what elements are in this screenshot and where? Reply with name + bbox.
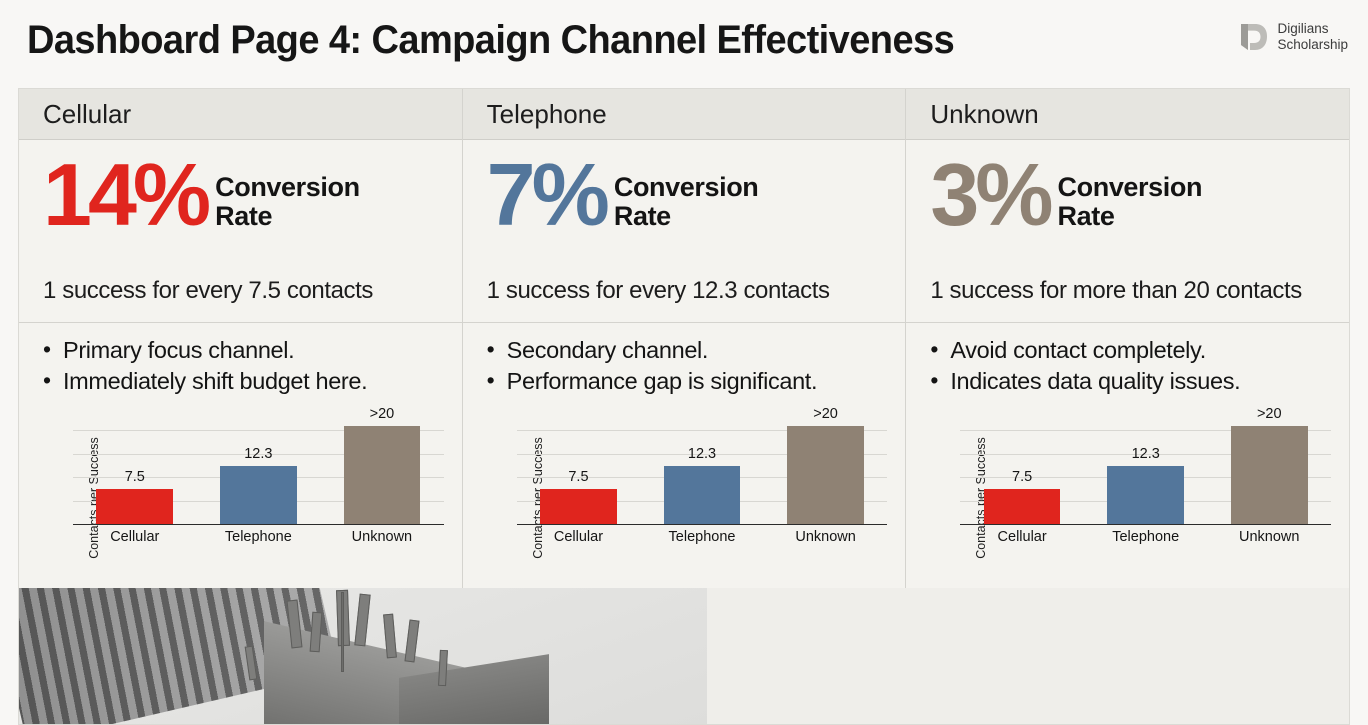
chart-bars: 7.512.3>20 (73, 407, 444, 524)
chart-x-tick-label: Unknown (320, 529, 444, 545)
card-title: Unknown (930, 99, 1038, 130)
conversion-rate-label: Conversion Rate (614, 173, 759, 231)
conversion-rate-label-line2: Rate (614, 201, 671, 231)
chart-bar-value-label: 7.5 (1012, 469, 1032, 485)
chart-plot-area: 7.512.3>20 (517, 407, 888, 525)
contacts-per-success-chart: Contacts per Success 7.512.3>20 Cellular… (930, 407, 1333, 588)
conversion-rate-label: Conversion Rate (215, 173, 360, 231)
chart-bar-value-label: >20 (1257, 406, 1282, 422)
chart-bar-telephone[interactable]: 12.3 (664, 466, 741, 524)
chart-x-tick-label: Unknown (1207, 529, 1331, 545)
conversion-rate-label-line2: Rate (215, 201, 272, 231)
chart-plot-area: 7.512.3>20 (73, 407, 444, 525)
chart-bar-cellular[interactable]: 7.5 (540, 489, 617, 524)
contacts-per-success-chart: Contacts per Success 7.512.3>20 Cellular… (43, 407, 446, 588)
chart-bar-value-label: 12.3 (244, 446, 272, 462)
chart-x-tick-label: Telephone (640, 529, 764, 545)
conversion-rate-label-line1: Conversion (614, 172, 759, 202)
card-telephone: Telephone 7% Conversion Rate 1 success f… (462, 89, 906, 588)
list-item: Primary focus channel. (43, 335, 446, 366)
brand-line-2: Scholarship (1277, 37, 1348, 53)
list-item: Performance gap is significant. (487, 366, 890, 397)
chart-bar-value-label: 7.5 (568, 469, 588, 485)
card-title: Cellular (43, 99, 131, 130)
chart-x-tick-labels: CellularTelephoneUnknown (517, 529, 888, 545)
chart-x-tick-label: Unknown (764, 529, 888, 545)
chart-bar-slot: >20 (320, 407, 444, 524)
card-body-cellular: Primary focus channel. Immediately shift… (19, 323, 462, 588)
chart-plot-area: 7.512.3>20 (960, 407, 1331, 525)
contacts-per-success-chart: Contacts per Success 7.512.3>20 Cellular… (487, 407, 890, 588)
chart-bar-value-label: 12.3 (688, 446, 716, 462)
contacts-ratio-text: 1 success for more than 20 contacts (930, 277, 1302, 305)
chart-bar-cellular[interactable]: 7.5 (96, 489, 173, 524)
chart-bar-slot: 7.5 (517, 407, 641, 524)
channel-cards-grid: Cellular 14% Conversion Rate 1 success f… (18, 88, 1350, 588)
list-item: Avoid contact completely. (930, 335, 1333, 366)
chart-bar-value-label: >20 (370, 406, 395, 422)
conversion-rate-label: Conversion Rate (1058, 173, 1203, 231)
chart-x-tick-labels: CellularTelephoneUnknown (73, 529, 444, 545)
chart-bar-value-label: 12.3 (1132, 446, 1160, 462)
card-body-telephone: Secondary channel. Performance gap is si… (463, 323, 906, 588)
chart-bar-slot: 7.5 (960, 407, 1084, 524)
conversion-rate-label-line2: Rate (1058, 201, 1115, 231)
chart-bar-unknown[interactable]: >20 (1231, 426, 1308, 524)
page-header: Dashboard Page 4: Campaign Channel Effec… (0, 0, 1368, 84)
chart-bar-slot: 7.5 (73, 407, 197, 524)
insight-bullets: Primary focus channel. Immediately shift… (43, 335, 446, 397)
card-title: Telephone (487, 99, 607, 130)
list-item: Secondary channel. (487, 335, 890, 366)
page-title: Dashboard Page 4: Campaign Channel Effec… (27, 18, 954, 63)
chart-bar-unknown[interactable]: >20 (344, 426, 421, 524)
card-stat-cellular: 14% Conversion Rate 1 success for every … (19, 140, 462, 323)
chart-x-tick-labels: CellularTelephoneUnknown (960, 529, 1331, 545)
card-body-unknown: Avoid contact completely. Indicates data… (906, 323, 1349, 588)
chart-x-tick-label: Telephone (1084, 529, 1208, 545)
card-stat-unknown: 3% Conversion Rate 1 success for more th… (906, 140, 1349, 323)
antenna-mast-icon (341, 592, 344, 672)
chart-bar-slot: 12.3 (1084, 407, 1208, 524)
chart-bars: 7.512.3>20 (517, 407, 888, 524)
digilians-d-logo-icon (1238, 22, 1268, 52)
card-cellular: Cellular 14% Conversion Rate 1 success f… (19, 89, 462, 588)
chart-bar-unknown[interactable]: >20 (787, 426, 864, 524)
chart-bar-value-label: 7.5 (125, 469, 145, 485)
chart-bar-value-label: >20 (813, 406, 838, 422)
cell-tower-photo (19, 588, 707, 725)
chart-bar-telephone[interactable]: 12.3 (220, 466, 297, 524)
contacts-ratio-text: 1 success for every 7.5 contacts (43, 277, 373, 305)
chart-bar-slot: >20 (1207, 407, 1331, 524)
list-item: Immediately shift budget here. (43, 366, 446, 397)
brand-logo: Digilians Scholarship (1238, 21, 1348, 52)
brand-line-1: Digilians (1277, 21, 1348, 37)
insight-bullets: Secondary channel. Performance gap is si… (487, 335, 890, 397)
conversion-rate-label-line1: Conversion (1058, 172, 1203, 202)
chart-bars: 7.512.3>20 (960, 407, 1331, 524)
card-stat-telephone: 7% Conversion Rate 1 success for every 1… (463, 140, 906, 323)
card-header-telephone: Telephone (463, 89, 906, 140)
chart-bar-slot: 12.3 (197, 407, 321, 524)
contacts-ratio-text: 1 success for every 12.3 contacts (487, 277, 830, 305)
conversion-rate-label-line1: Conversion (215, 172, 360, 202)
chart-x-tick-label: Telephone (197, 529, 321, 545)
conversion-rate-value: 3% (930, 156, 1049, 233)
chart-bar-cellular[interactable]: 7.5 (984, 489, 1061, 524)
conversion-rate-value: 14% (43, 156, 207, 233)
dashboard-page: Dashboard Page 4: Campaign Channel Effec… (0, 0, 1368, 725)
list-item: Indicates data quality issues. (930, 366, 1333, 397)
chart-bar-slot: >20 (764, 407, 888, 524)
card-unknown: Unknown 3% Conversion Rate 1 success for… (905, 89, 1349, 588)
brand-name: Digilians Scholarship (1277, 21, 1348, 52)
card-header-unknown: Unknown (906, 89, 1349, 140)
card-header-cellular: Cellular (19, 89, 462, 140)
chart-bar-slot: 12.3 (640, 407, 764, 524)
bottom-strip: مستقل mostaql.com RECOMMENDATION: Cellul… (18, 588, 1350, 725)
conversion-rate-value: 7% (487, 156, 606, 233)
chart-bar-telephone[interactable]: 12.3 (1107, 466, 1184, 524)
insight-bullets: Avoid contact completely. Indicates data… (930, 335, 1333, 397)
